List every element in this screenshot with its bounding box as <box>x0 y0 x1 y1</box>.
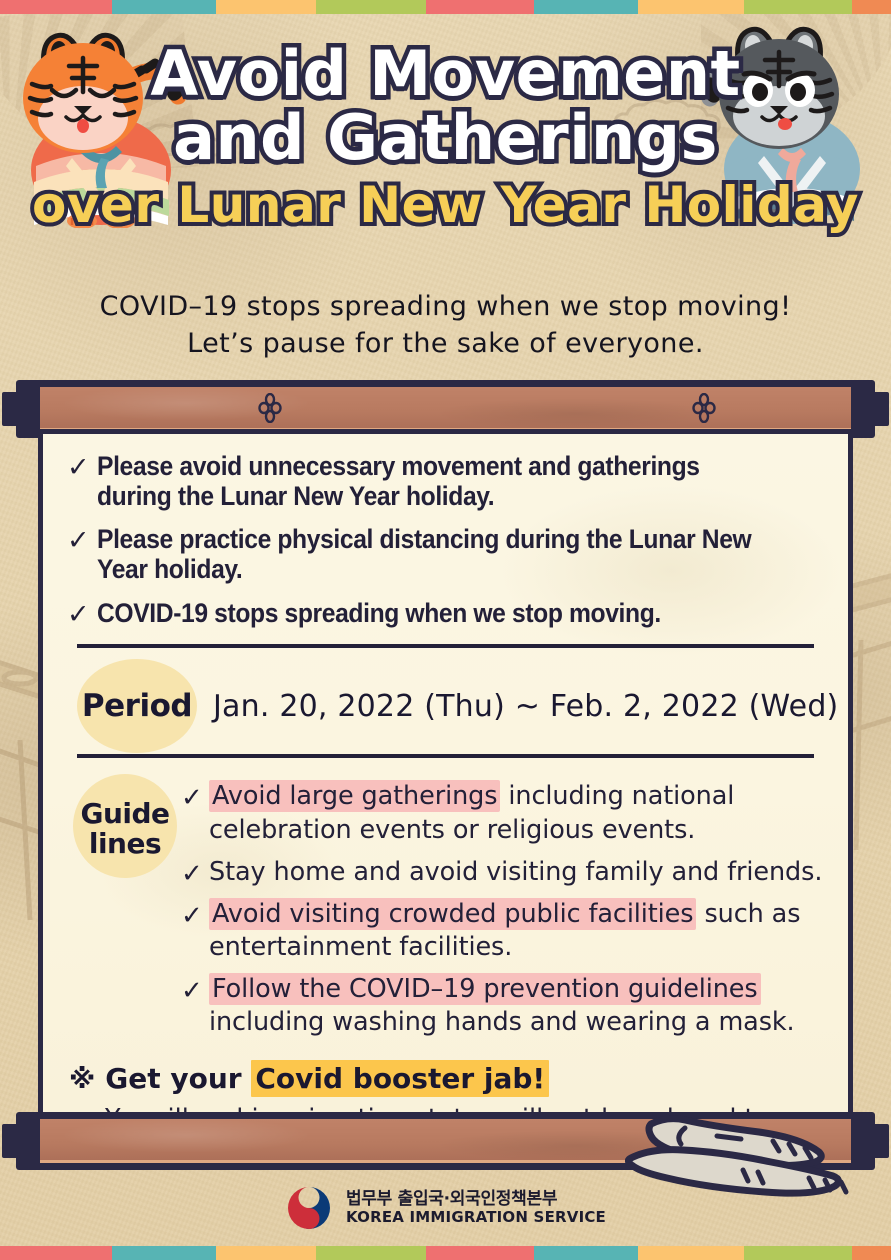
guidelines-section: Guide lines ✓ Avoid large gatherings inc… <box>67 780 824 1048</box>
strip-segment <box>744 1246 852 1260</box>
booster-note-heading-text: Get your Covid booster jab! <box>105 1062 549 1095</box>
note-head-prefix: Get your <box>105 1062 251 1095</box>
footer-text-block: 법무부 출입국·외국인정책본부 KOREA IMMIGRATION SERVIC… <box>346 1190 606 1226</box>
subtitle-line-1: COVID–19 stops spreading when we stop mo… <box>0 288 891 325</box>
guideline-text: Stay home and avoid visiting family and … <box>209 856 822 889</box>
reference-mark-icon: ※ <box>69 1064 95 1095</box>
list-item: ✓ Stay home and avoid visiting family an… <box>181 856 824 889</box>
check-icon: ✓ <box>67 525 97 555</box>
divider-above-period <box>77 644 814 648</box>
strip-segment <box>0 1246 112 1260</box>
highlight-yellow: Covid booster jab! <box>251 1060 549 1097</box>
check-icon: ✓ <box>67 452 97 482</box>
strip-segment <box>534 1246 638 1260</box>
strip-segment <box>426 1246 534 1260</box>
check-icon: ✓ <box>181 780 209 813</box>
scroll-content: ✓ Please avoid unnecessary movement and … <box>43 434 848 1116</box>
strip-segment <box>638 1246 744 1260</box>
list-item: ✓ Follow the COVID–19 prevention guideli… <box>181 973 824 1039</box>
scroll-rod-cap-left <box>2 392 18 426</box>
guideline-rest: Stay home and avoid visiting family and … <box>209 857 822 887</box>
highlight-pink: Avoid visiting crowded public facilities <box>209 898 696 930</box>
strip-segment <box>744 0 852 14</box>
strip-segment <box>316 1246 426 1260</box>
strip-segment <box>426 0 534 14</box>
guidelines-label-badge: Guide lines <box>71 780 179 872</box>
check-icon: ✓ <box>181 973 209 1006</box>
strip-segment <box>0 0 112 14</box>
guideline-text: Avoid visiting crowded public facilities… <box>209 898 824 964</box>
guideline-text: Avoid large gatherings including nationa… <box>209 780 824 846</box>
top-color-strip <box>0 0 891 14</box>
period-section: Period Jan. 20, 2022 (Thu) ~ Feb. 2, 202… <box>67 674 824 738</box>
poster-title-block: Avoid Movement and Gatherings over Lunar… <box>0 44 891 229</box>
check-icon: ✓ <box>181 898 209 931</box>
korea-government-taegeuk-logo-icon <box>285 1184 333 1232</box>
main-checklist: ✓ Please avoid unnecessary movement and … <box>67 452 824 628</box>
strip-segment <box>112 0 216 14</box>
list-item: ✓ Avoid large gatherings including natio… <box>181 780 824 846</box>
scroll-rod-cap-right <box>873 392 889 426</box>
booster-note-heading: ※ Get your Covid booster jab! <box>69 1062 824 1095</box>
poster-subtitle: COVID–19 stops spreading when we stop mo… <box>0 288 891 363</box>
strip-segment <box>852 1246 891 1260</box>
check-icon: ✓ <box>67 599 97 629</box>
guideline-rest: including washing hands and wearing a ma… <box>209 1007 795 1037</box>
subtitle-line-2: Let’s pause for the sake of everyone. <box>0 325 891 362</box>
checklist-item-text: Please practice physical distancing duri… <box>97 525 773 584</box>
list-item: ✓ Please avoid unnecessary movement and … <box>67 452 824 511</box>
highlight-pink: Follow the COVID–19 prevention guideline… <box>209 973 761 1005</box>
check-icon: ✓ <box>181 856 209 889</box>
period-value: Jan. 20, 2022 (Thu) ~ Feb. 2, 2022 (Wed) <box>213 689 838 724</box>
footer-korean-name: 법무부 출입국·외국인정책본부 <box>346 1190 606 1209</box>
divider-below-period <box>77 754 814 758</box>
footer-english-name: KOREA IMMIGRATION SERVICE <box>346 1209 606 1226</box>
guidelines-list: ✓ Avoid large gatherings including natio… <box>181 780 824 1048</box>
four-petal-flower-icon <box>692 393 716 423</box>
guideline-text: Follow the COVID–19 prevention guideline… <box>209 973 824 1039</box>
strip-segment <box>852 0 891 14</box>
title-line-3: over Lunar New Year Holiday <box>0 181 891 229</box>
list-item: ✓ Avoid visiting crowded public faciliti… <box>181 898 824 964</box>
strip-segment <box>112 1246 216 1260</box>
scroll-rod-top-surface <box>40 387 851 431</box>
scroll-rod-cap-right <box>873 1124 889 1158</box>
period-label: Period <box>82 688 192 724</box>
strip-segment <box>534 0 638 14</box>
scroll-paper: ✓ Please avoid unnecessary movement and … <box>38 429 853 1121</box>
checklist-item-text: Please avoid unnecessary movement and ga… <box>97 452 773 511</box>
checklist-item-text: COVID-19 stops spreading when we stop mo… <box>97 599 661 629</box>
guidelines-label-line-1: Guide <box>80 799 169 829</box>
title-line-1: Avoid Movement <box>0 44 891 104</box>
strip-segment <box>638 0 744 14</box>
footer: 법무부 출입국·외국인정책본부 KOREA IMMIGRATION SERVIC… <box>0 1170 891 1246</box>
scroll-rod-cap-left <box>2 1124 18 1158</box>
guidelines-label-line-2: lines <box>89 829 161 859</box>
strip-segment <box>216 1246 316 1260</box>
list-item: ✓ COVID-19 stops spreading when we stop … <box>67 599 824 629</box>
bottom-color-strip <box>0 1246 891 1260</box>
scroll-panel: ✓ Please avoid unnecessary movement and … <box>28 380 863 1170</box>
highlight-pink: Avoid large gatherings <box>209 780 500 812</box>
strip-segment <box>316 0 426 14</box>
period-label-badge: Period <box>73 674 201 738</box>
list-item: ✓ Please practice physical distancing du… <box>67 525 824 584</box>
title-line-2: and Gatherings <box>0 108 891 168</box>
four-petal-flower-icon <box>258 393 282 423</box>
strip-segment <box>216 0 316 14</box>
poster-root: Avoid Movement and Gatherings over Lunar… <box>0 0 891 1260</box>
